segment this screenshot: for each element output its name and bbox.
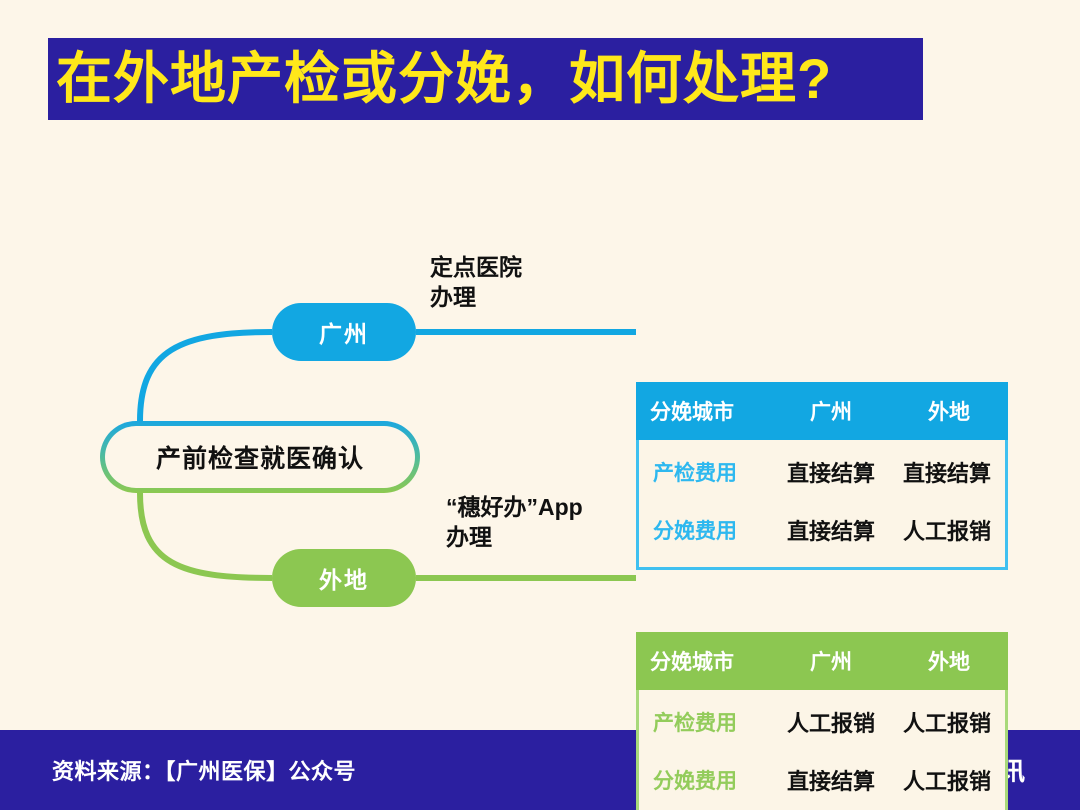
branch-node-other-city[interactable]: 外地 <box>272 549 416 607</box>
branch-note-other-city-line2: 办理 <box>446 522 583 552</box>
table-header-cell: 广州 <box>772 396 890 426</box>
table-header-cell: 分娩城市 <box>636 646 772 676</box>
branch-node-guangzhou[interactable]: 广州 <box>272 303 416 361</box>
table-row-label: 分娩费用 <box>639 765 773 795</box>
table-row-label: 产检费用 <box>639 707 773 737</box>
table-body: 产检费用 人工报销 人工报销 分娩费用 直接结算 人工报销 <box>636 690 1008 810</box>
table-cell: 人工报销 <box>889 764 1005 796</box>
table-row-label: 产检费用 <box>639 457 773 487</box>
table-row: 分娩费用 直接结算 人工报销 <box>639 501 1005 559</box>
table-cell: 直接结算 <box>773 456 889 488</box>
table-row: 产检费用 人工报销 人工报销 <box>639 693 1005 751</box>
table-cell: 人工报销 <box>773 706 889 738</box>
table-cell: 人工报销 <box>889 706 1005 738</box>
branch-node-other-city-label: 外地 <box>319 561 369 595</box>
table-cell: 直接结算 <box>773 514 889 546</box>
table-cell: 直接结算 <box>889 456 1005 488</box>
other-city-fee-table: 分娩城市 广州 外地 产检费用 人工报销 人工报销 分娩费用 直接结算 人工报销 <box>636 632 1008 810</box>
branch-note-guangzhou: 定点医院 办理 <box>430 252 522 313</box>
page-title: 在外地产检或分娩，如何处理? <box>56 51 832 107</box>
branch-note-guangzhou-line2: 办理 <box>430 282 522 312</box>
branch-line-other <box>140 493 272 578</box>
guangzhou-fee-table: 分娩城市 广州 外地 产检费用 直接结算 直接结算 分娩费用 直接结算 人工报销 <box>636 382 1008 570</box>
table-body: 产检费用 直接结算 直接结算 分娩费用 直接结算 人工报销 <box>636 440 1008 570</box>
table-header-cell: 外地 <box>890 396 1008 426</box>
table-header-cell: 外地 <box>890 646 1008 676</box>
branch-note-other-city: “穗好办”App 办理 <box>446 492 583 553</box>
branch-note-guangzhou-line1: 定点医院 <box>430 252 522 282</box>
table-header-row: 分娩城市 广州 外地 <box>636 632 1008 690</box>
table-header-cell: 广州 <box>772 646 890 676</box>
root-node-label: 产前检查就医确认 <box>156 439 364 475</box>
branch-node-guangzhou-label: 广州 <box>319 315 369 349</box>
root-node[interactable]: 产前检查就医确认 <box>105 426 415 488</box>
branch-line-guangzhou <box>140 332 272 421</box>
table-header-row: 分娩城市 广州 外地 <box>636 382 1008 440</box>
table-cell: 人工报销 <box>889 514 1005 546</box>
branch-note-other-city-line1: “穗好办”App <box>446 492 583 522</box>
footer-source-text: 资料来源：【广州医保】公众号 <box>52 754 356 786</box>
table-header-cell: 分娩城市 <box>636 396 772 426</box>
table-row: 产检费用 直接结算 直接结算 <box>639 443 1005 501</box>
table-row: 分娩费用 直接结算 人工报销 <box>639 751 1005 809</box>
table-row-label: 分娩费用 <box>639 515 773 545</box>
page-title-bar: 在外地产检或分娩，如何处理? <box>48 38 923 120</box>
table-cell: 直接结算 <box>773 764 889 796</box>
mindmap-diagram: 产前检查就医确认 广州 外地 定点医院 办理 “穗好办”App 办理 分娩城市 … <box>0 140 1080 720</box>
